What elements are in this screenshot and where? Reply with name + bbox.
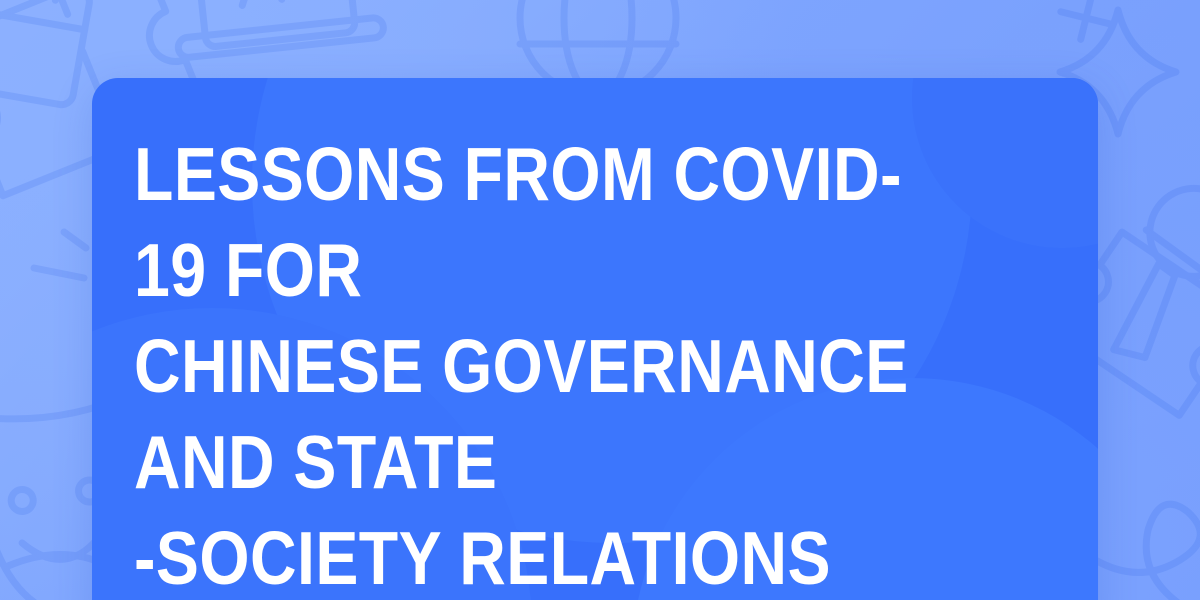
calendar-icon [0, 0, 94, 107]
laptop-icon [168, 0, 384, 58]
event-title: Lessons from COVID-19 for Chinese Govern… [134, 126, 913, 600]
sparkle-icon [1055, 0, 1116, 46]
event-card: Lessons from COVID-19 for Chinese Govern… [92, 78, 1098, 600]
card-content: Lessons from COVID-19 for Chinese Govern… [92, 78, 1098, 600]
confetti-icon [8, 232, 104, 566]
event-banner: Lessons from COVID-19 for Chinese Govern… [0, 0, 1200, 600]
